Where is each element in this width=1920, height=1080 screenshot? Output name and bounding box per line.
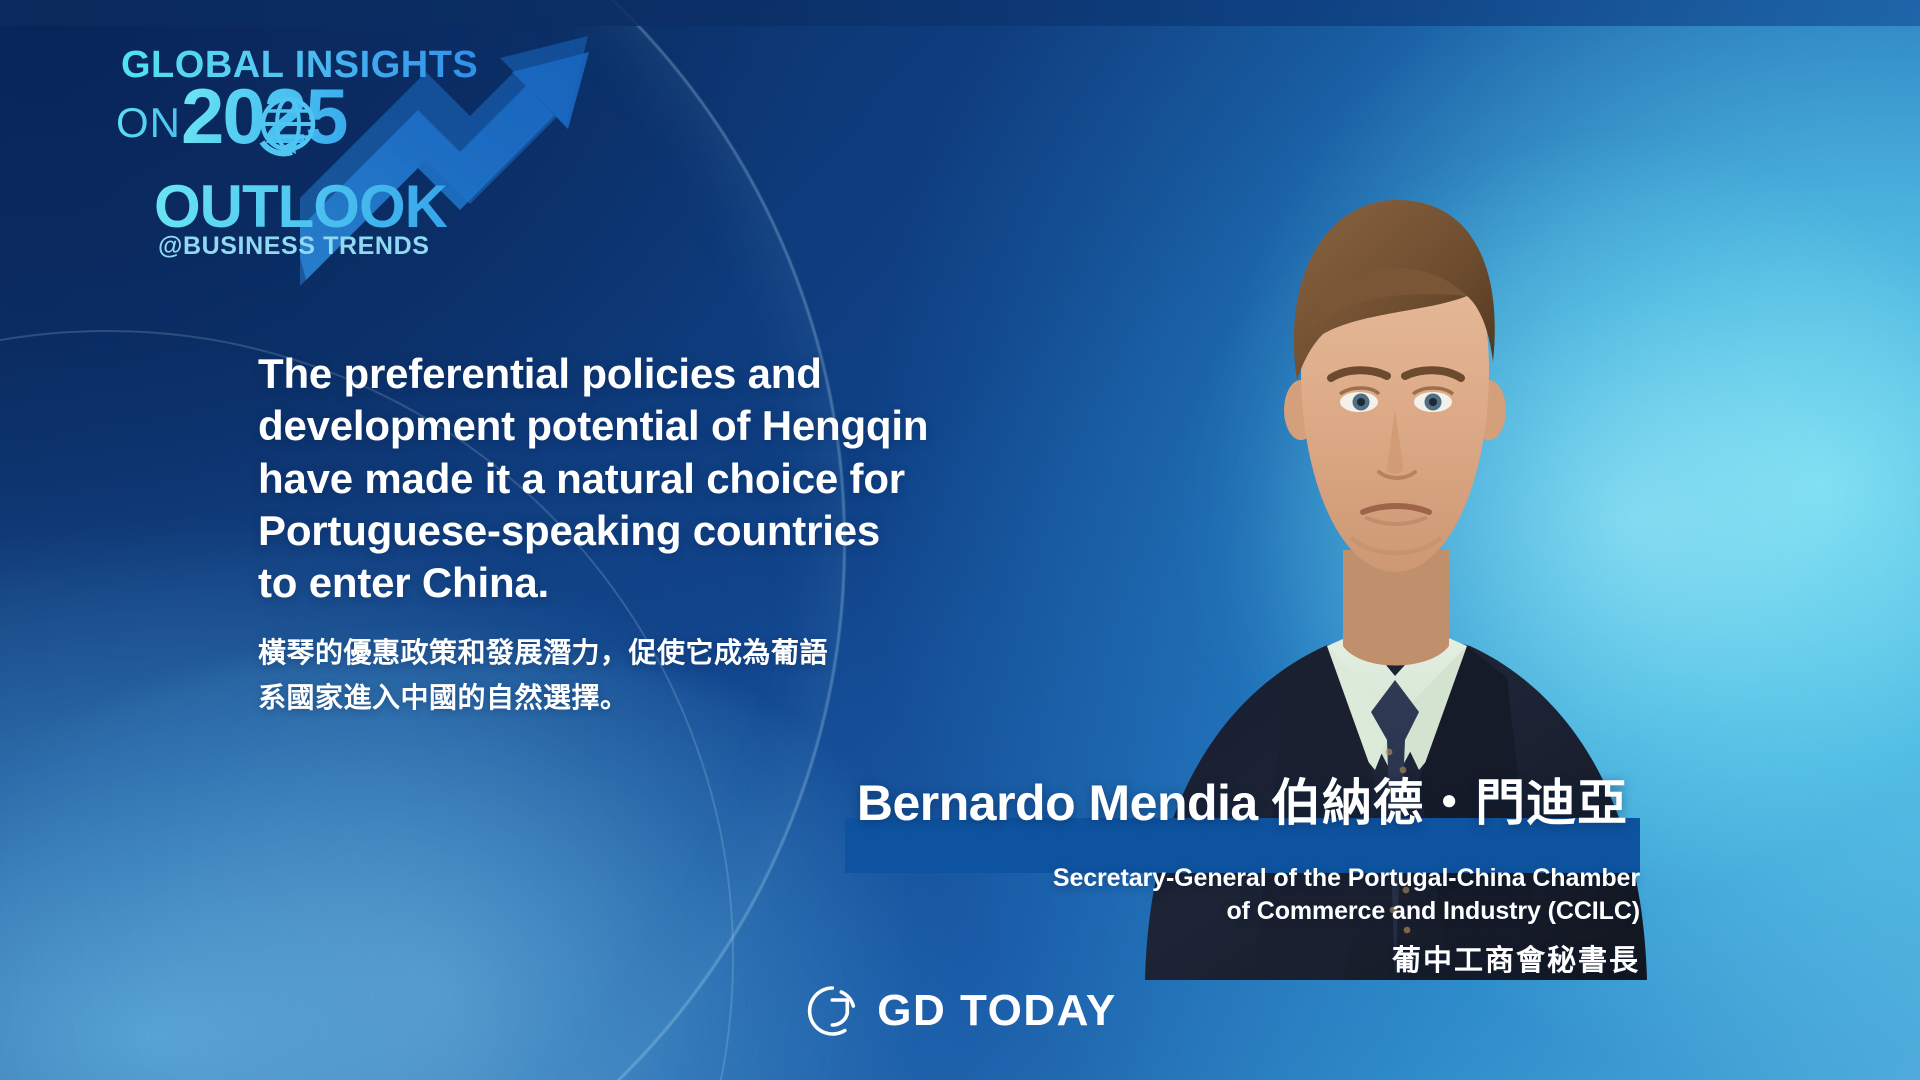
quote-zh-line: 系國家進入中國的自然選擇。	[258, 676, 1018, 720]
quote-english: The preferential policies and developmen…	[258, 348, 1018, 609]
quote-en-line: to enter China.	[258, 557, 1018, 609]
quote-chinese: 橫琴的優惠政策和發展潛力，促使它成為葡語 系國家進入中國的自然選擇。	[258, 631, 1018, 719]
poster-canvas: GLOBAL INSIGHTS ON 2025 OUTLOOK @BUSINES…	[0, 0, 1920, 1080]
speaker-role-english: Secretary-General of the Portugal-China …	[740, 862, 1640, 927]
logo-word-on: ON	[116, 99, 181, 147]
brand-logo: GD TODAY	[803, 982, 1116, 1040]
quote-en-line: The preferential policies and	[258, 348, 1018, 400]
speaker-name-en: Bernardo Mendia	[857, 775, 1258, 831]
campaign-logo: GLOBAL INSIGHTS ON 2025 OUTLOOK @BUSINES…	[96, 44, 516, 264]
quote-en-line: development potential of Hengqin	[258, 400, 1018, 452]
quote-block: The preferential policies and developmen…	[258, 348, 1018, 720]
brand-name: GD TODAY	[877, 986, 1116, 1036]
speaker-role-block: Secretary-General of the Portugal-China …	[740, 862, 1640, 979]
logo-line-business-trends: @BUSINESS TRENDS	[158, 232, 430, 261]
speaker-name-zh: 伯納德・門迪亞	[1271, 775, 1628, 831]
logo-line-outlook: OUTLOOK	[154, 172, 447, 241]
role-en-line: of Commerce and Industry (CCILC)	[740, 895, 1640, 928]
role-en-line: Secretary-General of the Portugal-China …	[740, 862, 1640, 895]
speaker-name: Bernardo Mendia 伯納德・門迪亞	[845, 763, 1640, 835]
quote-en-line: have made it a natural choice for	[258, 453, 1018, 505]
quote-zh-line: 橫琴的優惠政策和發展潛力，促使它成為葡語	[258, 631, 1018, 675]
globe-icon	[252, 90, 324, 162]
speaker-role-chinese: 葡中工商會秘書長	[740, 937, 1640, 979]
gd-circle-mark-icon	[803, 982, 861, 1040]
background-top-strip	[0, 0, 1920, 26]
quote-en-line: Portuguese-speaking countries	[258, 505, 1018, 557]
